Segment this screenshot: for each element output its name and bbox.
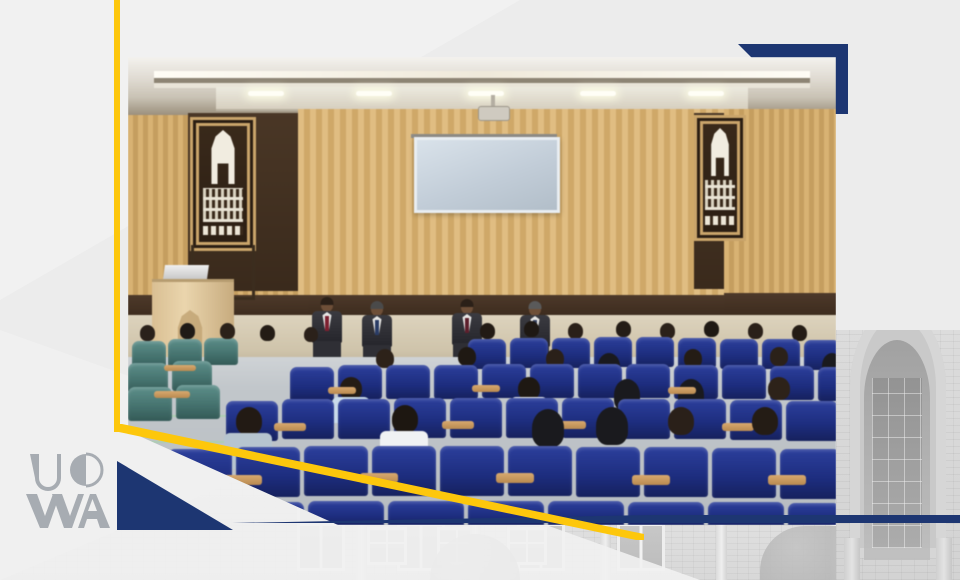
audience-head (668, 407, 694, 435)
audience-head (748, 323, 763, 339)
ornament-dot-row (705, 216, 735, 225)
audience-head (236, 407, 262, 435)
seat (780, 449, 836, 499)
uowa-logo: UOWA (26, 452, 112, 530)
audience-head (458, 347, 476, 366)
seat (576, 447, 640, 497)
ornament-panel-right (694, 115, 746, 241)
audience-head (180, 323, 195, 339)
speaker-tie (375, 320, 379, 335)
seat (290, 367, 334, 401)
seat (204, 338, 238, 365)
seat (786, 401, 836, 441)
ornament-panel-left (190, 117, 256, 251)
speaker-tie (325, 316, 329, 331)
ornament-calligraphy (203, 188, 243, 222)
audience-head (392, 405, 418, 433)
armrest (164, 365, 196, 371)
audience-head (568, 323, 583, 339)
audience-head (140, 325, 155, 341)
seat (818, 367, 836, 401)
seat (440, 446, 504, 496)
seat (434, 365, 478, 399)
audience-head (616, 321, 631, 337)
armrest (328, 387, 356, 394)
yellow-accent-stripe-vertical (114, 0, 120, 432)
ceiling-light (580, 91, 616, 96)
seat (712, 448, 776, 498)
seat (450, 398, 502, 438)
ceiling-projector-icon (478, 106, 510, 121)
armrest (668, 387, 696, 394)
speaker-hair (529, 301, 542, 309)
speaker-tie (465, 318, 469, 333)
audience-head-hijab (532, 409, 564, 447)
seat (636, 337, 674, 367)
speaker-hair (461, 299, 474, 307)
ceiling-light (468, 91, 504, 96)
ornament-arch-motif (206, 130, 240, 184)
armrest (496, 473, 534, 483)
speaker-hair (321, 297, 334, 305)
audience-head (220, 323, 235, 339)
arch-column (844, 538, 860, 580)
ceiling-light (356, 91, 392, 96)
arch-column (936, 538, 952, 580)
audience-head (770, 347, 788, 366)
ornament-arch-motif (707, 128, 733, 176)
banner-canvas: UOWA (0, 0, 960, 580)
armrest (632, 475, 670, 485)
armrest (472, 385, 500, 392)
audience-head-hijab (596, 407, 628, 445)
seat (722, 365, 766, 399)
audience-head (304, 327, 318, 342)
projection-screen (414, 137, 560, 213)
seat (508, 446, 572, 496)
facade-shrub (760, 526, 880, 580)
audience-head (524, 321, 539, 337)
seat (386, 365, 430, 399)
armrest (768, 475, 806, 485)
seat (644, 447, 708, 497)
audience-head (480, 323, 495, 339)
ornament-dot-row (203, 226, 243, 235)
armrest (274, 423, 306, 431)
ceiling-light (688, 91, 724, 96)
speaker-hair (371, 301, 384, 309)
ornament-calligraphy (705, 180, 735, 210)
podium-laptop (163, 265, 209, 279)
hall-wall-band (724, 293, 836, 317)
audience-head (752, 407, 778, 435)
ceiling-cove-strip (154, 71, 810, 78)
audience-head (260, 325, 275, 341)
audience-head (768, 377, 790, 400)
audience-head (704, 321, 719, 337)
armrest (722, 423, 754, 431)
ceiling-light (248, 91, 284, 96)
arch-inner (864, 340, 930, 560)
armrest (442, 421, 474, 429)
seat (282, 399, 334, 439)
armrest (154, 391, 190, 398)
